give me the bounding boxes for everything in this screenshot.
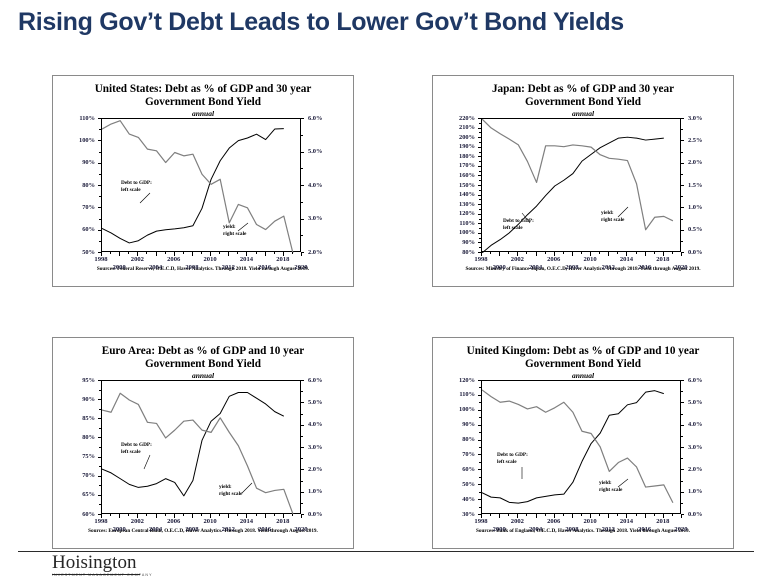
annotation-yield: yield:right scale bbox=[599, 480, 622, 493]
y-axis-left-tick bbox=[478, 128, 481, 129]
y-axis-right-tick bbox=[301, 402, 304, 403]
x-axis-tick-label: 2000 bbox=[486, 264, 512, 271]
y-axis-left-minor-tick bbox=[99, 174, 101, 175]
x-axis-tick-label: 2004 bbox=[523, 526, 549, 533]
x-axis-tick-label: 2014 bbox=[613, 256, 639, 263]
chart-title-united-states: United States: Debt as % of GDP and 30 y… bbox=[53, 83, 353, 109]
annotation-debt-line2: left scale bbox=[121, 449, 141, 455]
y-axis-left-tick-label: 110% bbox=[433, 391, 475, 398]
y-axis-right-minor-tick bbox=[301, 135, 303, 136]
y-axis-left-tick-label: 190% bbox=[433, 143, 475, 150]
x-axis-tick bbox=[183, 514, 184, 516]
x-axis-tick bbox=[119, 252, 120, 256]
chart-panel-united-states: United States: Debt as % of GDP and 30 y… bbox=[52, 75, 354, 287]
chart-title-line2: Government Bond Yield bbox=[525, 358, 641, 370]
x-axis-tick bbox=[274, 252, 275, 254]
y-axis-left-minor-tick bbox=[479, 171, 481, 172]
y-axis-right-minor-tick bbox=[681, 219, 683, 220]
x-axis-tick-label: 2002 bbox=[504, 518, 530, 525]
x-axis-tick-label: 2018 bbox=[270, 518, 296, 525]
y-axis-left-tick bbox=[98, 399, 101, 400]
y-axis-left-tick-label: 70% bbox=[53, 472, 95, 479]
y-axis-right-tick-label: 3.0% bbox=[308, 215, 322, 222]
y-axis-left-tick bbox=[478, 118, 481, 119]
y-axis-left-tick bbox=[98, 380, 101, 381]
leader-line-debt bbox=[144, 455, 150, 469]
y-axis-left-tick bbox=[478, 499, 481, 500]
y-axis-right-tick-label: 5.0% bbox=[688, 399, 702, 406]
y-axis-right-minor-tick bbox=[681, 241, 683, 242]
y-axis-right-minor-tick bbox=[681, 458, 683, 459]
y-axis-right-tick-label: 0.5% bbox=[688, 226, 702, 233]
y-axis-right-minor-tick bbox=[681, 129, 683, 130]
x-axis-tick-label: 2008 bbox=[559, 264, 585, 271]
x-axis-tick bbox=[292, 514, 293, 516]
x-axis-tick bbox=[156, 514, 157, 518]
x-axis-tick bbox=[165, 252, 166, 254]
y-axis-left-minor-tick bbox=[479, 387, 481, 388]
y-axis-left-minor-tick bbox=[479, 447, 481, 448]
x-axis-tick-label: 2002 bbox=[124, 256, 150, 263]
x-axis-tick bbox=[146, 514, 147, 516]
x-axis-tick-label: 2016 bbox=[252, 264, 278, 271]
x-axis-tick-label: 2012 bbox=[215, 526, 241, 533]
x-axis-tick-label: 2002 bbox=[124, 518, 150, 525]
x-axis-tick bbox=[608, 252, 609, 256]
y-axis-right-tick bbox=[681, 118, 684, 119]
y-axis-left-tick bbox=[478, 214, 481, 215]
y-axis-left-minor-tick bbox=[99, 428, 101, 429]
y-axis-left-minor-tick bbox=[479, 123, 481, 124]
annotation-debt-line2: left scale bbox=[497, 459, 517, 465]
chart-title-euro-area: Euro Area: Debt as % of GDP and 10 year … bbox=[53, 345, 353, 371]
x-axis-tick-label: 2000 bbox=[106, 264, 132, 271]
y-axis-right-tick bbox=[301, 152, 304, 153]
x-axis-tick-label: 2020 bbox=[288, 526, 314, 533]
x-axis-tick bbox=[499, 514, 500, 518]
y-axis-left-tick bbox=[98, 495, 101, 496]
series-line-yield bbox=[482, 390, 673, 503]
y-axis-right-minor-tick bbox=[681, 196, 683, 197]
chart-title-line2: Government Bond Yield bbox=[525, 96, 641, 108]
leader-line-debt bbox=[140, 193, 150, 203]
y-axis-left-tick-label: 50% bbox=[433, 481, 475, 488]
y-axis-left-tick bbox=[478, 185, 481, 186]
y-axis-right-minor-tick bbox=[681, 503, 683, 504]
y-axis-right-tick bbox=[301, 469, 304, 470]
x-axis-tick bbox=[654, 514, 655, 516]
y-axis-left-tick-label: 180% bbox=[433, 153, 475, 160]
y-axis-left-tick-label: 70% bbox=[53, 204, 95, 211]
y-axis-left-minor-tick bbox=[479, 180, 481, 181]
annotation-debt-line1: Debt to GDP: bbox=[497, 452, 528, 458]
annotation-yield-line2: right scale bbox=[223, 231, 246, 237]
x-axis-tick-label: 2008 bbox=[179, 526, 205, 533]
y-axis-left-tick bbox=[478, 204, 481, 205]
x-axis-tick bbox=[581, 514, 582, 516]
x-axis-tick-label: 2012 bbox=[595, 526, 621, 533]
chart-title-line2: Government Bond Yield bbox=[145, 96, 261, 108]
y-axis-right-tick bbox=[681, 425, 684, 426]
x-axis-tick-label: 2010 bbox=[577, 518, 603, 525]
y-axis-left-tick bbox=[478, 242, 481, 243]
y-axis-right-tick-label: 2.5% bbox=[688, 137, 702, 144]
x-axis-tick-label: 2016 bbox=[632, 526, 658, 533]
y-axis-right-tick-label: 0.0% bbox=[688, 249, 702, 256]
x-axis-tick-label: 2020 bbox=[288, 264, 314, 271]
y-axis-left-minor-tick bbox=[99, 466, 101, 467]
y-axis-right-minor-tick bbox=[301, 503, 303, 504]
x-axis-tick-label: 1998 bbox=[468, 256, 494, 263]
y-axis-left-minor-tick bbox=[479, 142, 481, 143]
y-axis-right-tick-label: 1.0% bbox=[308, 488, 322, 495]
x-axis-tick bbox=[201, 252, 202, 254]
annotation-debt-line2: left scale bbox=[121, 187, 141, 193]
y-axis-left-tick-label: 150% bbox=[433, 182, 475, 189]
x-axis-tick bbox=[265, 252, 266, 256]
annotation-debt-line1: Debt to GDP: bbox=[121, 442, 152, 448]
y-axis-right-tick bbox=[681, 402, 684, 403]
y-axis-right-tick-label: 3.0% bbox=[688, 115, 702, 122]
y-axis-right-tick bbox=[681, 207, 684, 208]
x-axis-tick-label: 2008 bbox=[559, 526, 585, 533]
x-axis-tick-label: 2010 bbox=[577, 256, 603, 263]
annotation-yield: yield:right scale bbox=[219, 484, 242, 497]
y-axis-right-minor-tick bbox=[301, 414, 303, 415]
y-axis-left-minor-tick bbox=[479, 228, 481, 229]
y-axis-right-minor-tick bbox=[301, 458, 303, 459]
y-axis-left-tick-label: 80% bbox=[433, 436, 475, 443]
x-axis-tick bbox=[165, 514, 166, 516]
x-axis-tick bbox=[192, 514, 193, 518]
x-axis-tick bbox=[301, 514, 302, 518]
y-axis-left-tick-label: 90% bbox=[53, 396, 95, 403]
x-axis-tick bbox=[156, 252, 157, 256]
y-axis-left-minor-tick bbox=[479, 402, 481, 403]
y-axis-left-tick bbox=[478, 175, 481, 176]
x-axis-tick-label: 2014 bbox=[233, 256, 259, 263]
y-axis-right-minor-tick bbox=[681, 152, 683, 153]
annotation-debt-to-gdp: Debt to GDP:left scale bbox=[121, 442, 152, 455]
x-axis-tick bbox=[128, 252, 129, 254]
y-axis-right-tick bbox=[301, 219, 304, 220]
y-axis-left-minor-tick bbox=[479, 432, 481, 433]
chart-title-line2: Government Bond Yield bbox=[145, 358, 261, 370]
y-axis-left-tick-label: 75% bbox=[53, 453, 95, 460]
y-axis-right-tick-label: 2.0% bbox=[688, 466, 702, 473]
x-axis-tick-label: 2006 bbox=[541, 256, 567, 263]
y-axis-right-minor-tick bbox=[301, 202, 303, 203]
annotation-yield: yield:right scale bbox=[601, 210, 624, 223]
x-axis-tick bbox=[526, 252, 527, 254]
x-axis-tick-label: 2000 bbox=[486, 526, 512, 533]
annotation-debt-line2: left scale bbox=[503, 225, 523, 231]
y-axis-right-minor-tick bbox=[681, 174, 683, 175]
y-axis-left-minor-tick bbox=[479, 238, 481, 239]
y-axis-left-tick-label: 110% bbox=[433, 220, 475, 227]
x-axis-tick bbox=[201, 514, 202, 516]
y-axis-left-minor-tick bbox=[479, 462, 481, 463]
y-axis-left-minor-tick bbox=[479, 190, 481, 191]
x-axis-tick-label: 2004 bbox=[143, 264, 169, 271]
y-axis-left-tick bbox=[478, 233, 481, 234]
x-axis-tick bbox=[183, 252, 184, 254]
x-axis-tick-label: 2006 bbox=[541, 518, 567, 525]
y-axis-right-tick-label: 1.0% bbox=[688, 488, 702, 495]
x-axis-tick bbox=[219, 514, 220, 516]
chart-title-japan: Japan: Debt as % of GDP and 30 year Gove… bbox=[433, 83, 733, 109]
y-axis-left-tick-label: 100% bbox=[433, 406, 475, 413]
y-axis-left-tick bbox=[98, 418, 101, 419]
x-axis-tick bbox=[490, 252, 491, 254]
x-axis-tick-label: 2018 bbox=[650, 256, 676, 263]
y-axis-left-tick bbox=[98, 140, 101, 141]
x-axis-tick bbox=[536, 514, 537, 518]
x-axis-tick bbox=[654, 252, 655, 254]
y-axis-left-tick bbox=[98, 185, 101, 186]
y-axis-left-tick-label: 220% bbox=[433, 115, 475, 122]
y-axis-right-minor-tick bbox=[301, 391, 303, 392]
y-axis-left-tick-label: 50% bbox=[53, 249, 95, 256]
y-axis-left-tick-label: 30% bbox=[433, 511, 475, 518]
annotation-yield-line2: right scale bbox=[601, 217, 624, 223]
x-axis-tick bbox=[645, 514, 646, 518]
x-axis-tick bbox=[572, 514, 573, 518]
series-line-yield bbox=[482, 119, 673, 230]
x-axis-tick bbox=[110, 514, 111, 516]
annotation-yield: yield:right scale bbox=[223, 224, 246, 237]
y-axis-left-minor-tick bbox=[479, 417, 481, 418]
y-axis-left-tick bbox=[98, 207, 101, 208]
x-axis-tick-label: 2020 bbox=[668, 264, 694, 271]
y-axis-right-tick bbox=[301, 380, 304, 381]
x-axis-tick bbox=[228, 252, 229, 256]
y-axis-left-tick-label: 80% bbox=[53, 434, 95, 441]
y-axis-right-tick bbox=[301, 447, 304, 448]
y-axis-left-minor-tick bbox=[99, 196, 101, 197]
annotation-yield-line1: yield: bbox=[219, 484, 232, 490]
x-axis-tick bbox=[228, 514, 229, 518]
y-axis-left-minor-tick bbox=[479, 132, 481, 133]
x-axis-tick bbox=[256, 252, 257, 254]
x-axis-tick-label: 2010 bbox=[197, 518, 223, 525]
annotation-yield-line1: yield: bbox=[599, 480, 612, 486]
x-axis-tick bbox=[672, 514, 673, 516]
x-axis-tick bbox=[301, 252, 302, 256]
chart-svg-jp bbox=[482, 119, 682, 253]
y-axis-right-tick bbox=[681, 140, 684, 141]
y-axis-left-minor-tick bbox=[99, 409, 101, 410]
y-axis-left-minor-tick bbox=[99, 241, 101, 242]
leader-line-yield bbox=[242, 483, 252, 493]
x-axis-tick bbox=[237, 514, 238, 516]
y-axis-right-tick-label: 2.0% bbox=[308, 466, 322, 473]
y-axis-left-minor-tick bbox=[99, 504, 101, 505]
annotation-yield-line2: right scale bbox=[219, 491, 242, 497]
y-axis-right-tick-label: 2.0% bbox=[688, 159, 702, 166]
x-axis-tick bbox=[572, 252, 573, 256]
y-axis-left-tick bbox=[478, 137, 481, 138]
x-axis-tick bbox=[617, 252, 618, 254]
x-axis-tick bbox=[499, 252, 500, 256]
x-axis-tick-label: 2018 bbox=[270, 256, 296, 263]
y-axis-left-minor-tick bbox=[479, 492, 481, 493]
y-axis-left-tick bbox=[98, 437, 101, 438]
y-axis-left-tick bbox=[98, 163, 101, 164]
x-axis-tick bbox=[526, 514, 527, 516]
y-axis-right-tick-label: 6.0% bbox=[308, 115, 322, 122]
y-axis-left-tick-label: 60% bbox=[53, 226, 95, 233]
y-axis-left-tick bbox=[478, 440, 481, 441]
x-axis-tick bbox=[617, 514, 618, 516]
x-axis-tick-label: 2006 bbox=[161, 518, 187, 525]
annotation-debt-to-gdp: Debt to GDP:left scale bbox=[497, 452, 528, 465]
y-axis-left-tick-label: 70% bbox=[433, 451, 475, 458]
y-axis-left-tick bbox=[98, 476, 101, 477]
x-axis-tick-label: 2012 bbox=[595, 264, 621, 271]
plot-area-japan bbox=[481, 118, 681, 252]
y-axis-left-tick-label: 85% bbox=[53, 415, 95, 422]
y-axis-right-tick bbox=[681, 163, 684, 164]
y-axis-right-tick bbox=[301, 492, 304, 493]
y-axis-left-tick-label: 80% bbox=[433, 249, 475, 256]
y-axis-left-tick bbox=[478, 195, 481, 196]
y-axis-right-tick-label: 4.0% bbox=[308, 421, 322, 428]
x-axis-tick bbox=[608, 514, 609, 518]
x-axis-tick bbox=[636, 514, 637, 516]
chart-title-united-kingdom: United Kingdom: Debt as % of GDP and 10 … bbox=[433, 345, 733, 371]
x-axis-tick bbox=[256, 514, 257, 516]
x-axis-tick-label: 1998 bbox=[88, 518, 114, 525]
y-axis-left-tick-label: 210% bbox=[433, 124, 475, 131]
x-axis-tick-label: 1998 bbox=[468, 518, 494, 525]
y-axis-left-minor-tick bbox=[479, 477, 481, 478]
x-axis-tick bbox=[681, 252, 682, 256]
y-axis-right-tick-label: 4.0% bbox=[688, 421, 702, 428]
x-axis-tick bbox=[563, 252, 564, 254]
x-axis-tick bbox=[599, 252, 600, 254]
y-axis-right-tick bbox=[681, 230, 684, 231]
y-axis-right-minor-tick bbox=[681, 414, 683, 415]
y-axis-left-minor-tick bbox=[479, 507, 481, 508]
chart-title-line1: United States: Debt as % of GDP and 30 y… bbox=[95, 83, 312, 95]
chart-panel-united-kingdom: United Kingdom: Debt as % of GDP and 10 … bbox=[432, 337, 734, 549]
y-axis-left-tick-label: 120% bbox=[433, 210, 475, 217]
y-axis-left-minor-tick bbox=[479, 209, 481, 210]
y-axis-left-tick bbox=[478, 166, 481, 167]
y-axis-right-tick bbox=[681, 469, 684, 470]
x-axis-tick bbox=[672, 252, 673, 254]
y-axis-right-tick-label: 5.0% bbox=[308, 148, 322, 155]
y-axis-left-minor-tick bbox=[99, 447, 101, 448]
y-axis-left-minor-tick bbox=[479, 199, 481, 200]
y-axis-left-tick-label: 130% bbox=[433, 201, 475, 208]
y-axis-left-minor-tick bbox=[99, 219, 101, 220]
y-axis-left-tick bbox=[98, 457, 101, 458]
y-axis-left-tick bbox=[478, 469, 481, 470]
y-axis-right-tick-label: 2.0% bbox=[308, 249, 322, 256]
chart-svg-uk bbox=[482, 381, 682, 515]
x-axis-tick-label: 2006 bbox=[161, 256, 187, 263]
x-axis-tick bbox=[128, 514, 129, 516]
y-axis-left-tick bbox=[478, 454, 481, 455]
annotation-yield-line1: yield: bbox=[223, 224, 236, 230]
x-axis-tick bbox=[490, 514, 491, 516]
y-axis-left-tick-label: 160% bbox=[433, 172, 475, 179]
x-axis-tick bbox=[508, 252, 509, 254]
y-axis-left-tick-label: 60% bbox=[433, 466, 475, 473]
y-axis-left-tick-label: 90% bbox=[433, 421, 475, 428]
y-axis-left-tick-label: 65% bbox=[53, 491, 95, 498]
y-axis-left-tick bbox=[478, 425, 481, 426]
y-axis-right-minor-tick bbox=[681, 391, 683, 392]
y-axis-right-tick-label: 3.0% bbox=[688, 444, 702, 451]
x-axis-tick bbox=[645, 252, 646, 256]
y-axis-right-tick-label: 0.0% bbox=[688, 511, 702, 518]
x-axis-tick bbox=[119, 514, 120, 518]
y-axis-right-minor-tick bbox=[301, 168, 303, 169]
x-axis-tick-label: 2002 bbox=[504, 256, 530, 263]
y-axis-right-tick bbox=[681, 380, 684, 381]
y-axis-left-minor-tick bbox=[99, 485, 101, 486]
y-axis-left-minor-tick bbox=[99, 390, 101, 391]
y-axis-right-tick bbox=[301, 425, 304, 426]
y-axis-right-tick-label: 6.0% bbox=[688, 377, 702, 384]
annotation-yield-line1: yield: bbox=[601, 210, 614, 216]
x-axis-tick bbox=[545, 252, 546, 254]
x-axis-tick bbox=[192, 252, 193, 256]
x-axis-tick bbox=[219, 252, 220, 254]
annotation-yield-line2: right scale bbox=[599, 487, 622, 493]
y-axis-right-minor-tick bbox=[301, 436, 303, 437]
x-axis-tick bbox=[599, 514, 600, 516]
y-axis-right-minor-tick bbox=[681, 481, 683, 482]
page-title: Rising Gov’t Debt Leads to Lower Gov’t B… bbox=[18, 8, 758, 37]
y-axis-left-tick bbox=[478, 380, 481, 381]
y-axis-left-tick-label: 110% bbox=[53, 115, 95, 122]
y-axis-right-tick bbox=[681, 447, 684, 448]
x-axis-tick bbox=[545, 514, 546, 516]
y-axis-right-tick-label: 3.0% bbox=[308, 444, 322, 451]
x-axis-tick bbox=[563, 514, 564, 516]
y-axis-left-tick-label: 200% bbox=[433, 134, 475, 141]
y-axis-left-tick-label: 100% bbox=[53, 137, 95, 144]
x-axis-tick bbox=[292, 252, 293, 254]
x-axis-tick bbox=[265, 514, 266, 518]
y-axis-left-tick-label: 120% bbox=[433, 377, 475, 384]
y-axis-left-tick-label: 140% bbox=[433, 191, 475, 198]
x-axis-tick-label: 2016 bbox=[632, 264, 658, 271]
y-axis-left-tick-label: 100% bbox=[433, 229, 475, 236]
x-axis-tick bbox=[536, 252, 537, 256]
x-axis-tick-label: 2010 bbox=[197, 256, 223, 263]
y-axis-left-minor-tick bbox=[99, 152, 101, 153]
chart-panel-japan: Japan: Debt as % of GDP and 30 year Gove… bbox=[432, 75, 734, 287]
x-axis-tick-label: 2014 bbox=[233, 518, 259, 525]
chart-title-line1: Euro Area: Debt as % of GDP and 10 year bbox=[102, 345, 305, 357]
y-axis-right-tick bbox=[301, 185, 304, 186]
x-axis-tick-label: 2012 bbox=[215, 264, 241, 271]
y-axis-left-minor-tick bbox=[479, 247, 481, 248]
y-axis-left-tick bbox=[478, 156, 481, 157]
y-axis-left-tick-label: 40% bbox=[433, 496, 475, 503]
y-axis-left-minor-tick bbox=[479, 152, 481, 153]
x-axis-tick-label: 2020 bbox=[668, 526, 694, 533]
x-axis-tick-label: 2004 bbox=[143, 526, 169, 533]
annotation-debt-to-gdp: Debt to GDP:left scale bbox=[503, 218, 534, 231]
series-line-debt-to-gdp bbox=[482, 137, 664, 253]
x-axis-tick bbox=[274, 514, 275, 516]
